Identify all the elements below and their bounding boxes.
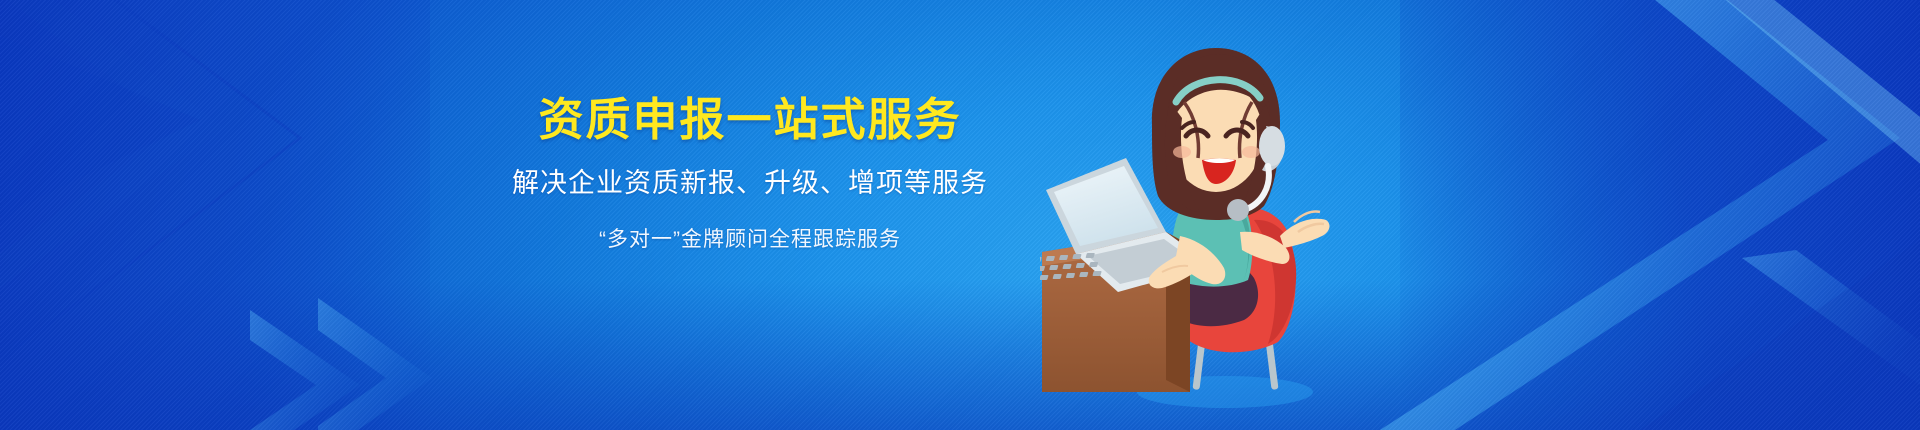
banner-subtitle-primary: 解决企业资质新报、升级、增项等服务	[430, 167, 1070, 199]
promo-banner: 资质申报一站式服务 解决企业资质新报、升级、增项等服务 “多对一”金牌顾问全程跟…	[0, 0, 1920, 430]
customer-service-agent-illustration	[1040, 40, 1340, 430]
banner-headline: 资质申报一站式服务	[430, 96, 1070, 145]
left-bottom-chevron-icon	[250, 298, 432, 430]
blush-left	[1173, 146, 1191, 158]
banner-subtitle-secondary: “多对一”金牌顾问全程跟踪服务	[430, 227, 1070, 252]
banner-copy: 资质申报一站式服务 解决企业资质新报、升级、增项等服务 “多对一”金牌顾问全程跟…	[430, 96, 1070, 252]
blush-right	[1242, 146, 1260, 158]
